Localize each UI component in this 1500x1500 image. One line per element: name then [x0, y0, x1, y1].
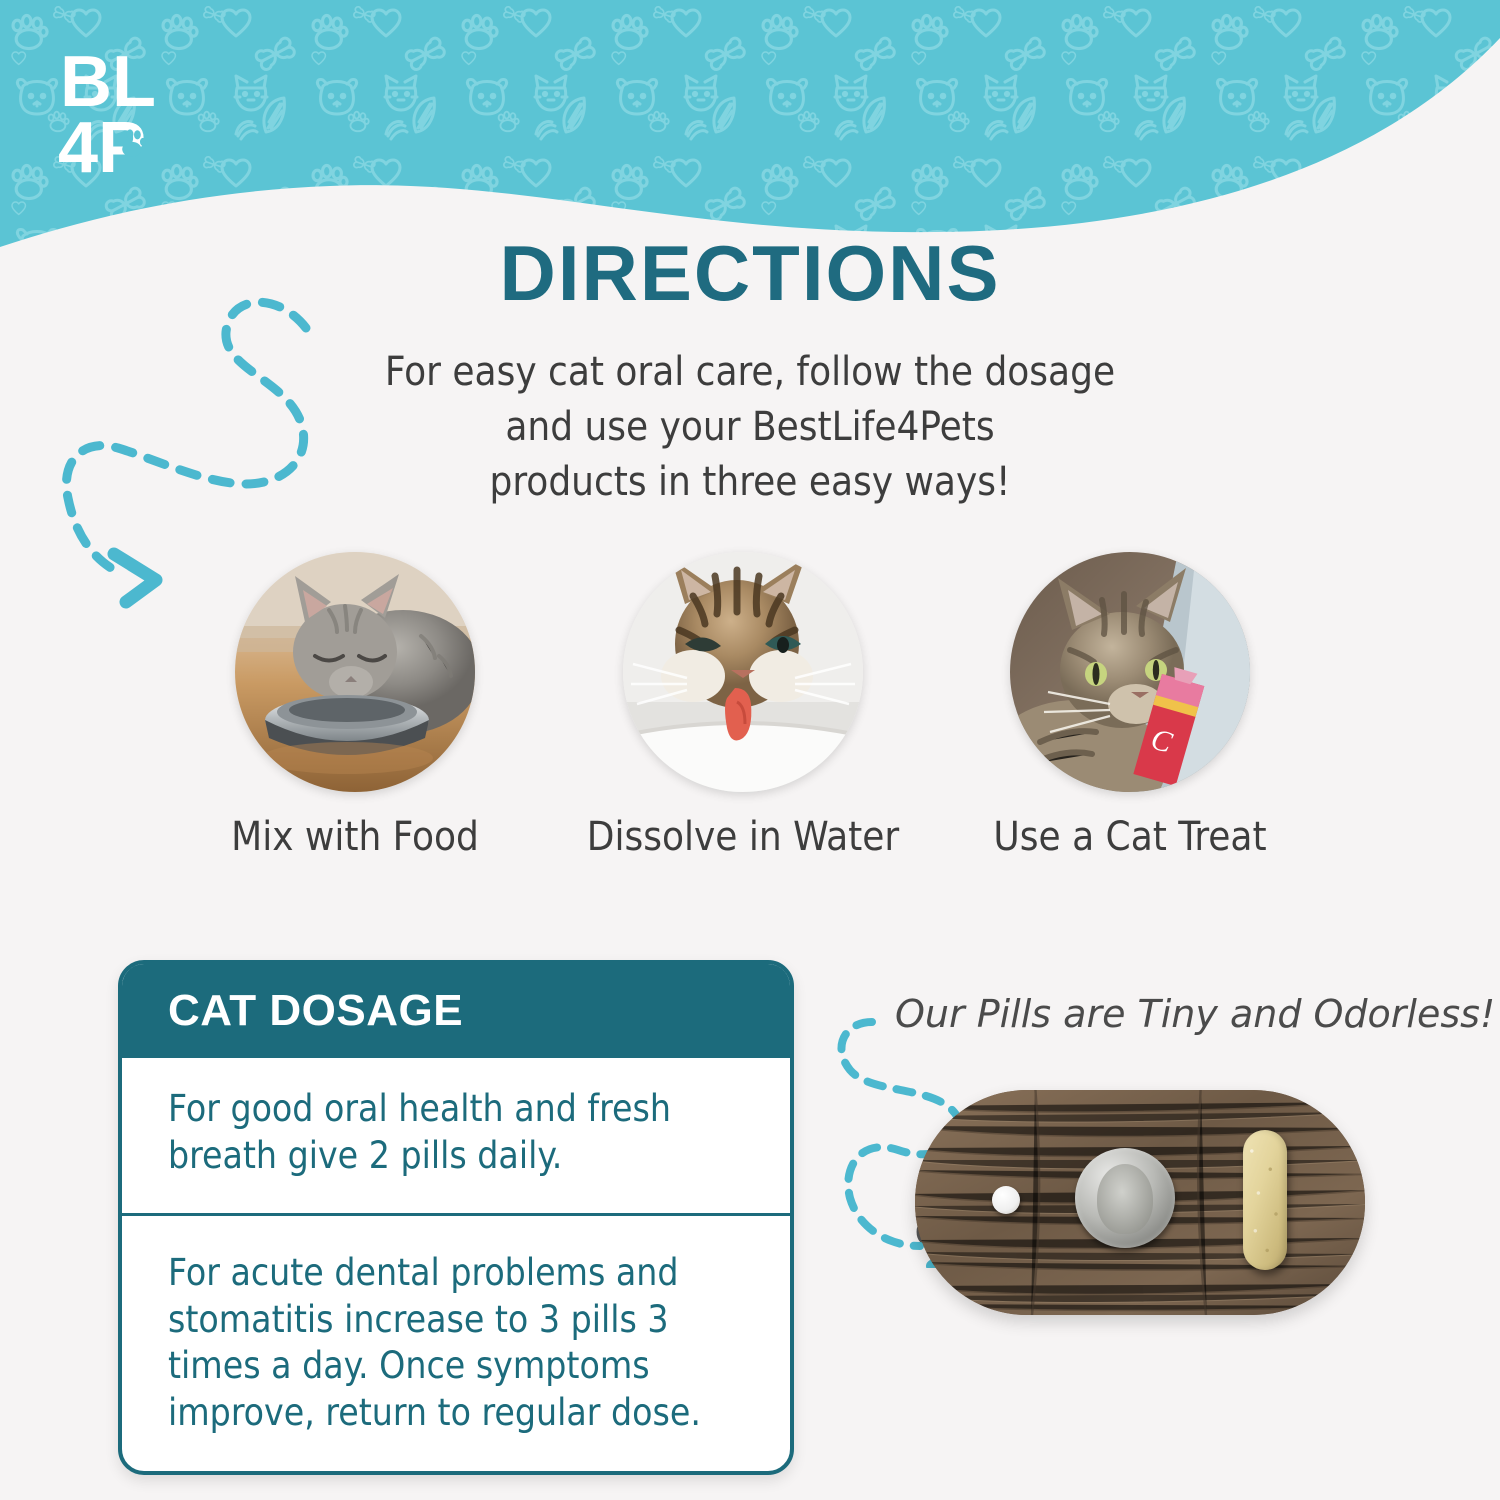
cat-dosage-heading: CAT DOSAGE: [122, 964, 790, 1058]
subtitle-line-3: products in three easy ways!: [330, 455, 1170, 510]
usage-methods: Mix with Food OR: [0, 552, 1500, 872]
usage-method-mix-with-food[interactable]: Mix with Food: [235, 552, 475, 792]
subtitle-line-1: For easy cat oral care, follow the dosag…: [330, 345, 1170, 400]
pill-size-comparison-board: [915, 1090, 1365, 1315]
cat-dosage-row-2: For acute dental problems and stomatitis…: [122, 1213, 790, 1470]
paw-print-icon: [120, 129, 146, 156]
large-yellow-capsule: [1243, 1130, 1287, 1270]
cat-dosage-card: CAT DOSAGE For good oral health and fres…: [118, 960, 794, 1475]
usage-method-label: Mix with Food: [145, 814, 565, 860]
logo-text-bl: BL: [60, 44, 156, 122]
logo-text-4p: 4P: [58, 108, 146, 184]
usage-method-use-cat-treat[interactable]: C Use a Cat Treat: [1010, 552, 1250, 792]
usage-method-label: Dissolve in Water: [533, 814, 953, 860]
tiny-white-pill: [992, 1186, 1020, 1214]
cat-dosage-row-1: For good oral health and fresh breath gi…: [122, 1058, 790, 1213]
photo-cat-with-treat: C: [1010, 552, 1250, 792]
photo-cat-drinking-water: [623, 552, 863, 792]
directions-infographic: BL 4P DIRECTIONS For easy cat oral care,…: [0, 0, 1500, 1500]
brand-logo[interactable]: BL 4P: [58, 44, 168, 184]
photo-cat-eating-bowl: [235, 552, 475, 792]
usage-method-label: Use a Cat Treat: [920, 814, 1340, 860]
dime-portrait: [1097, 1164, 1153, 1234]
usage-method-dissolve-in-water[interactable]: Dissolve in Water: [623, 552, 863, 792]
subtitle-line-2: and use your BestLife4Pets: [330, 400, 1170, 455]
us-dime-coin: [1075, 1148, 1175, 1248]
page-subtitle: For easy cat oral care, follow the dosag…: [330, 345, 1170, 511]
